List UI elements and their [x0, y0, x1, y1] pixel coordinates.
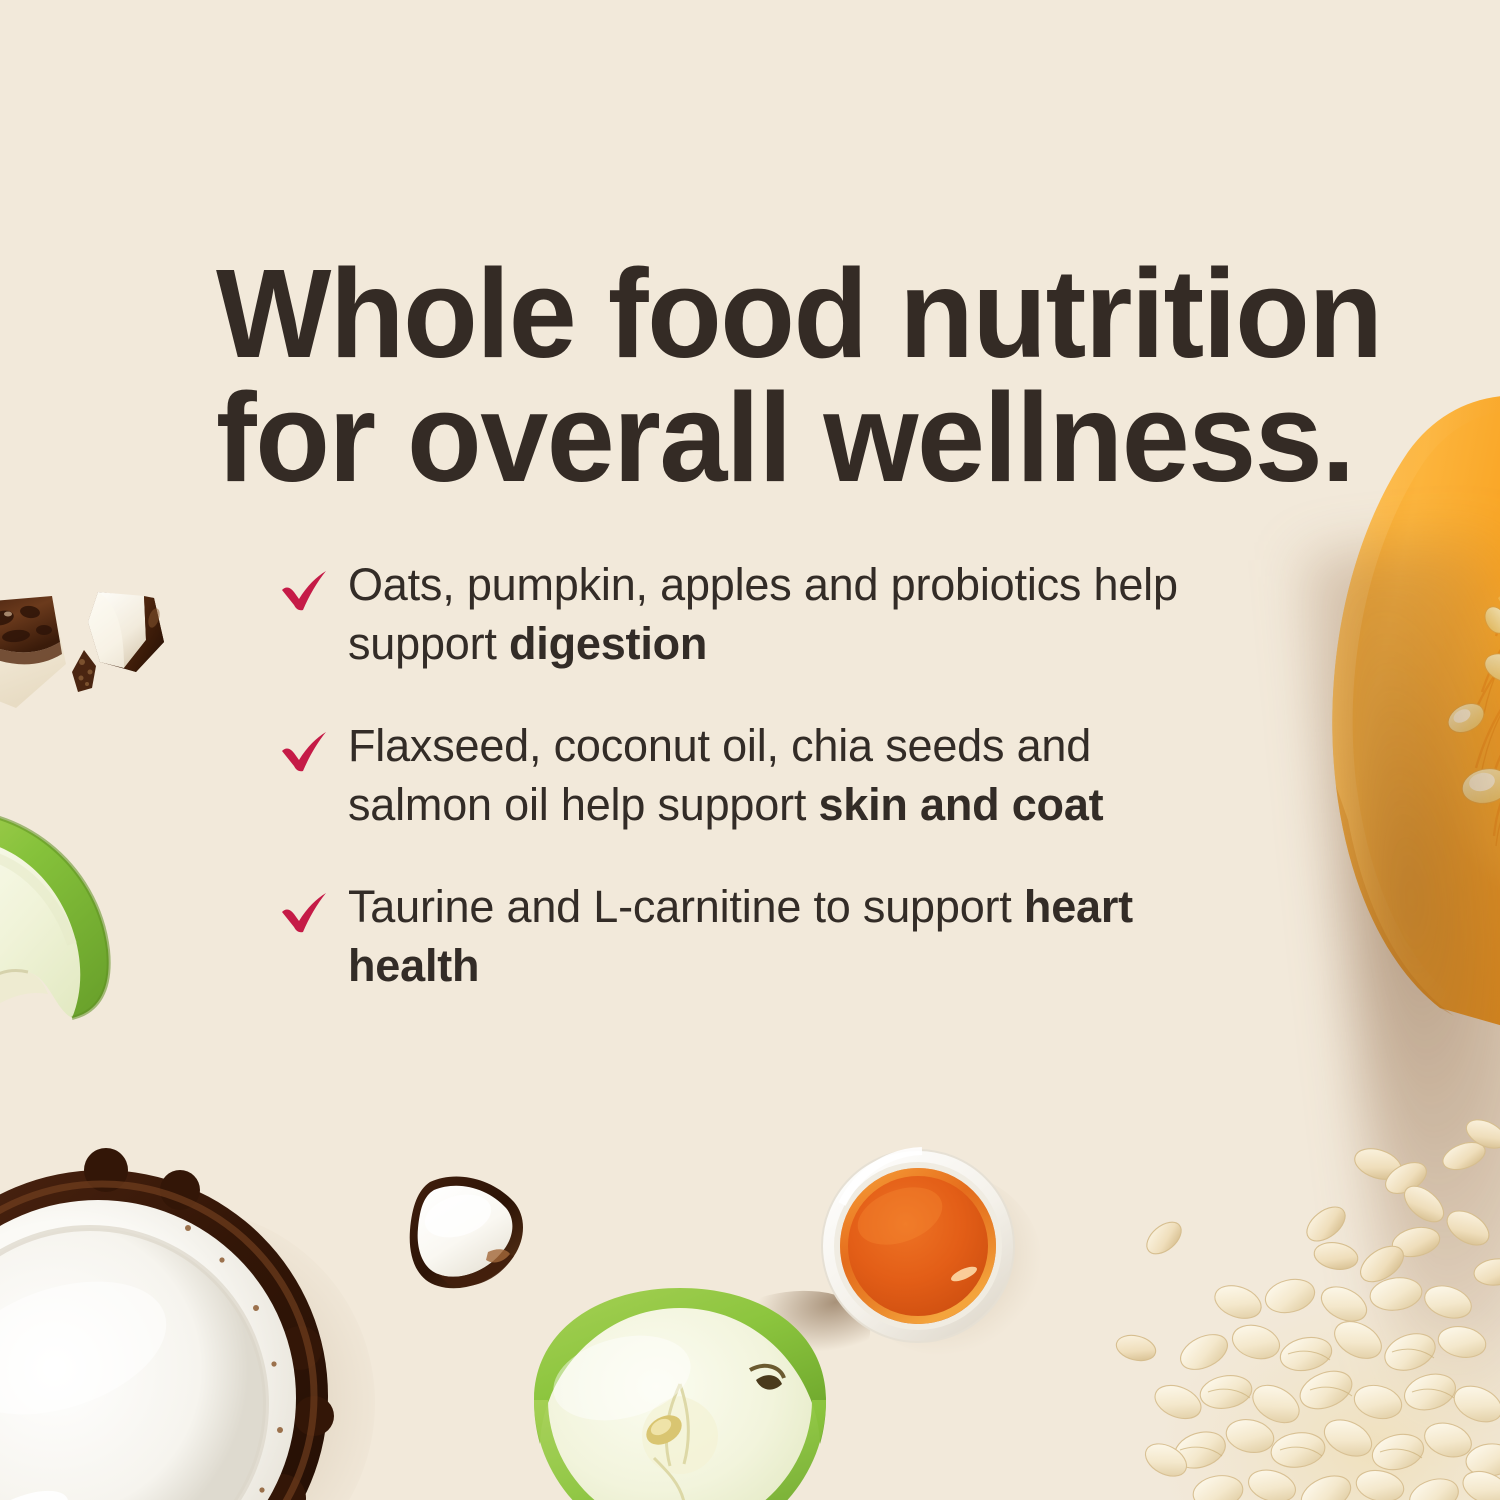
- salmon-oil-bowl: [818, 1146, 1038, 1358]
- checkmark-icon: [278, 888, 330, 936]
- benefit-text: Flaxseed, coconut oil, chia seeds and sa…: [348, 717, 1228, 834]
- benefit-text-plain: Oats, pumpkin, apples and probiotics hel…: [348, 559, 1178, 669]
- checkmark-icon: [278, 566, 330, 614]
- benefit-text-plain: Taurine and L-carnitine to support: [348, 881, 1024, 932]
- green-apple-slice: [0, 794, 152, 1020]
- benefit-text: Taurine and L-carnitine to support heart…: [348, 878, 1228, 995]
- headline-line-1: Whole food nutrition: [216, 252, 1283, 375]
- list-item: Taurine and L-carnitine to support heart…: [278, 878, 1228, 995]
- benefits-list: Oats, pumpkin, apples and probiotics hel…: [278, 556, 1228, 995]
- benefit-text-bold: skin and coat: [818, 779, 1103, 830]
- benefit-text: Oats, pumpkin, apples and probiotics hel…: [348, 556, 1228, 673]
- coconut-chunk: [0, 596, 72, 708]
- checkmark-icon: [278, 727, 330, 775]
- list-item: Flaxseed, coconut oil, chia seeds and sa…: [278, 717, 1228, 834]
- benefit-text-bold: digestion: [509, 618, 707, 669]
- halved-green-apple: [512, 1288, 844, 1500]
- rolled-oats: [1130, 1120, 1500, 1500]
- coconut-chunk: [396, 1168, 536, 1308]
- list-item: Oats, pumpkin, apples and probiotics hel…: [278, 556, 1228, 673]
- marketing-graphic: Whole food nutrition for overall wellnes…: [0, 0, 1500, 1500]
- coconut-fleck: [72, 650, 100, 694]
- page-title: Whole food nutrition for overall wellnes…: [216, 252, 1283, 499]
- halved-coconut: [0, 1168, 370, 1500]
- headline-line-2: for overall wellness.: [216, 376, 1283, 499]
